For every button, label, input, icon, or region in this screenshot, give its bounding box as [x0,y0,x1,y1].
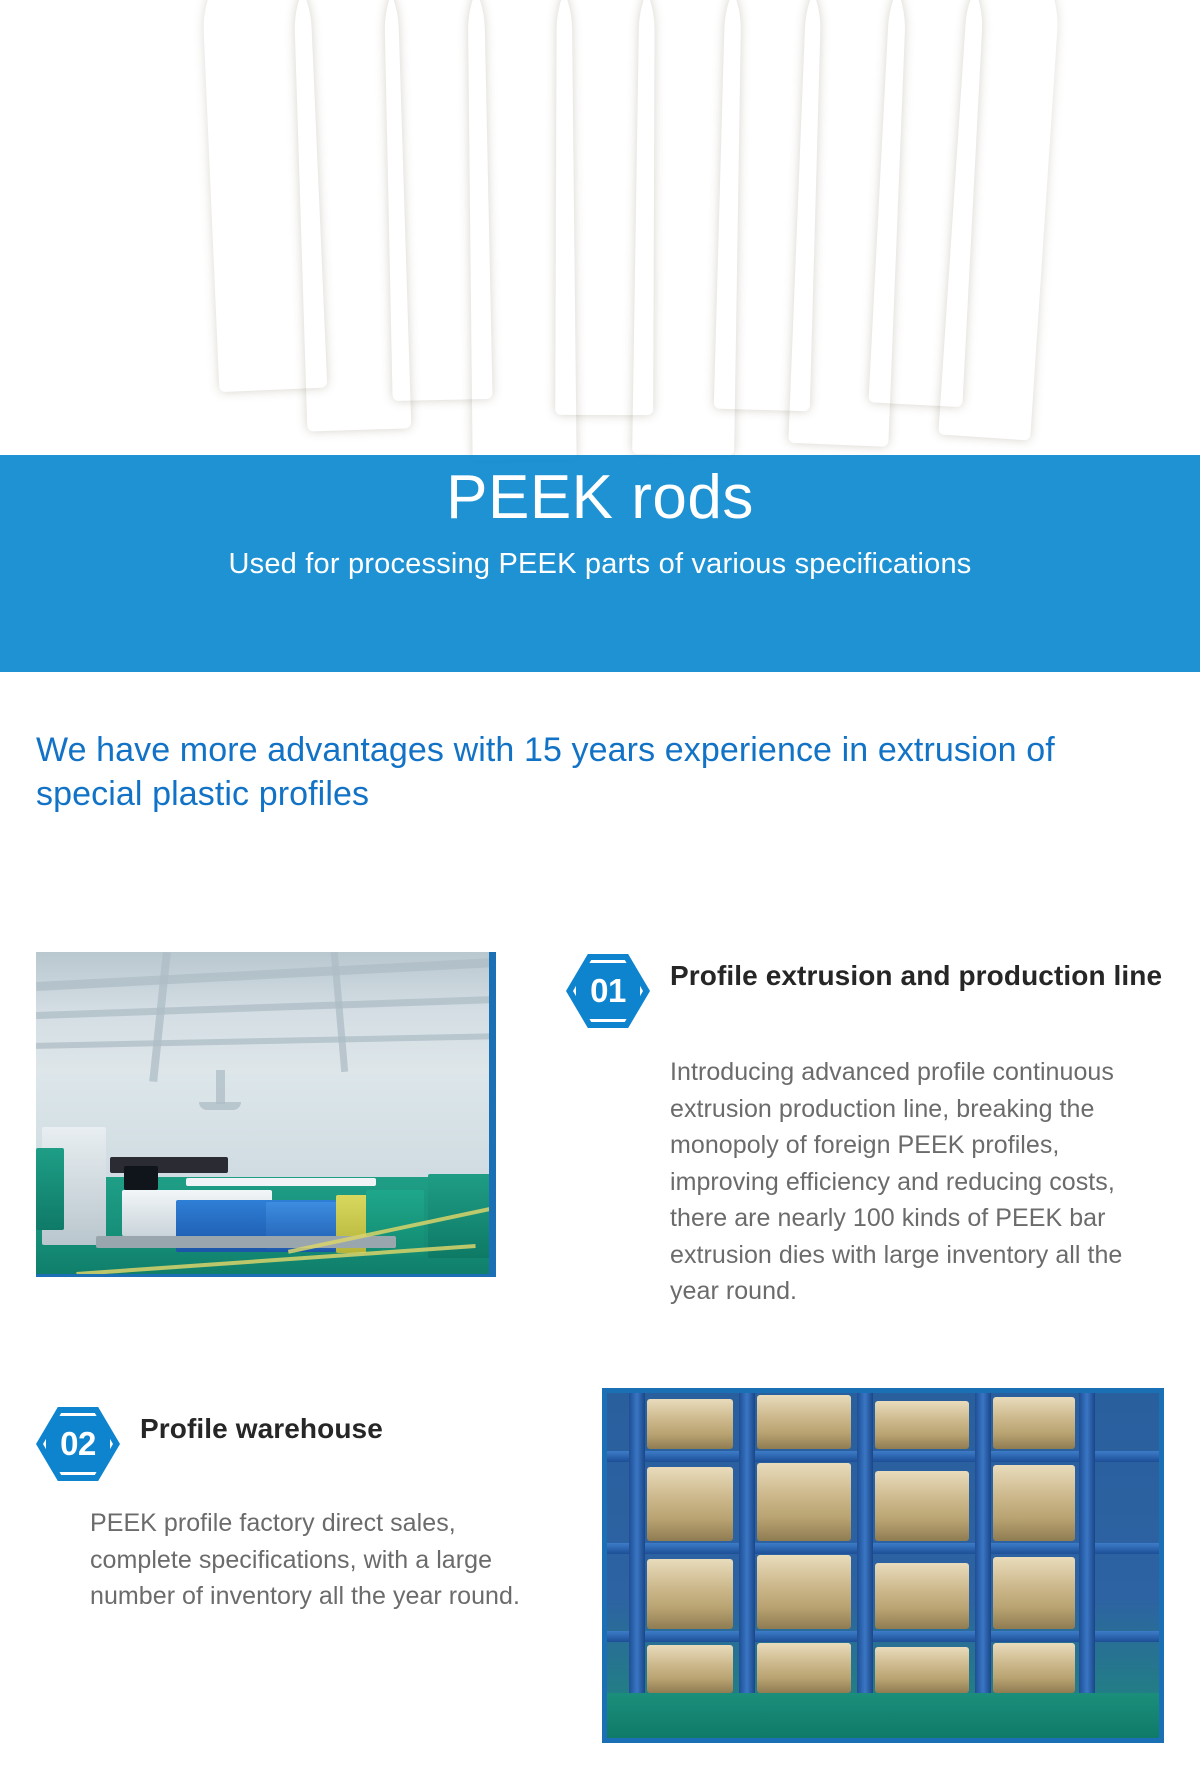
feature-01-body: Introducing advanced profile continuous … [670,1054,1170,1310]
hero-section: PEEK rods Used for processing PEEK parts… [0,0,1200,672]
feature-block-01: 01 Profile extrusion and production line… [0,952,1200,1312]
feature-block-02: 02 Profile warehouse PEEK profile factor… [0,1370,1200,1770]
hexagon-badge-icon: 01 [566,954,650,1028]
feature-01-title: Profile extrusion and production line [670,952,1162,994]
warehouse-photo [602,1388,1164,1743]
hero-title-band: PEEK rods Used for processing PEEK parts… [0,455,1200,672]
feature-02-number: 02 [36,1407,120,1481]
hexagon-badge-icon: 02 [36,1407,120,1481]
page-title: PEEK rods [446,465,754,530]
feature-01-number: 01 [566,954,650,1028]
hero-subtitle: Used for processing PEEK parts of variou… [229,548,972,581]
feature-01-heading-row: 01 Profile extrusion and production line [566,952,1176,1028]
feature-02-heading-row: 02 Profile warehouse [36,1405,566,1481]
extrusion-line-photo [36,952,496,1277]
feature-02-body: PEEK profile factory direct sales, compl… [90,1505,550,1615]
product-detail-page: PEEK rods Used for processing PEEK parts… [0,0,1200,1787]
section-headline: We have more advantages with 15 years ex… [36,728,1166,816]
feature-02-title: Profile warehouse [140,1405,383,1447]
feature-01-text: 01 Profile extrusion and production line… [566,952,1176,1310]
feature-02-text: 02 Profile warehouse PEEK profile factor… [36,1405,566,1615]
